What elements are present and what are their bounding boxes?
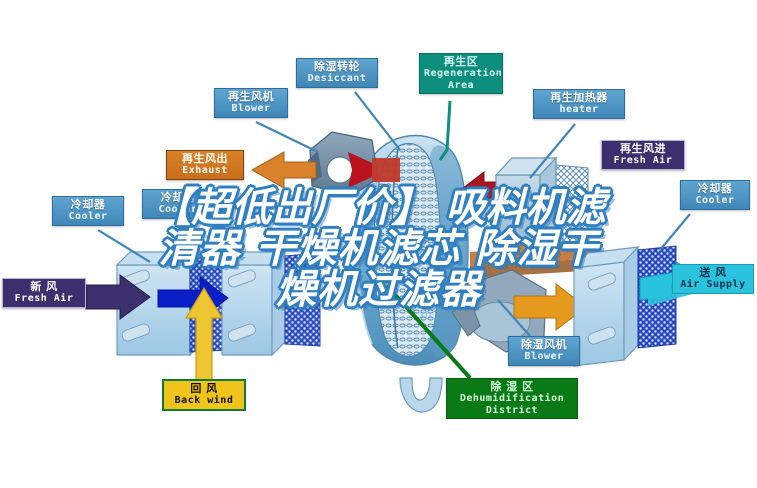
label-dehum-district-cn: 除 湿 区 — [451, 381, 573, 393]
label-air-supply: 送 风 Air Supply — [672, 264, 754, 294]
label-fresh-air-cn: 新 风 — [7, 281, 81, 293]
svg-text:xh: xh — [419, 310, 431, 321]
label-desiccant-cn: 除湿转轮 — [301, 61, 373, 73]
label-fresh-air: 新 风 Fresh Air — [2, 278, 86, 308]
label-air-supply-cn: 送 风 — [677, 267, 749, 279]
label-regen-fresh-air-in-en: Fresh Air — [606, 155, 680, 166]
supply-filter — [574, 246, 676, 366]
label-regen-heater: 再生加热器 heater — [533, 89, 625, 119]
label-cooler-left-cn: 冷却器 — [57, 199, 119, 211]
label-regen-heater-cn: 再生加热器 — [538, 92, 620, 104]
label-regen-blower-cn: 再生风机 — [219, 91, 283, 103]
label-cooler-right-en: Cooler — [685, 195, 745, 206]
label-back-wind: 回 风 Back wind — [162, 379, 246, 411]
label-cooler-mid-cn: 冷却器 — [147, 192, 209, 204]
label-regen-exhaust-cn: 再生风出 — [171, 153, 239, 165]
label-cooler-left: 冷却器 Cooler — [52, 196, 124, 226]
label-back-wind-cn: 回 风 — [168, 383, 240, 395]
label-fresh-air-en: Fresh Air — [7, 293, 81, 304]
label-regen-area-cn: 再生区 — [424, 56, 498, 68]
label-regen-blower-en: Blower — [219, 103, 283, 114]
label-regen-blower: 再生风机 Blower — [214, 88, 288, 118]
label-cooler-left-en: Cooler — [57, 211, 119, 222]
label-dehum-district-en-2: District — [451, 405, 573, 416]
label-dehum-district-en-1: Dehumidification — [451, 393, 573, 404]
cooler-coil-right — [222, 252, 320, 355]
label-air-supply-en: Air Supply — [677, 279, 749, 290]
label-dehum-blower-en: Blower — [513, 351, 575, 362]
label-dehum-blower-cn: 除湿风机 — [513, 339, 575, 351]
label-cooler-mid: 冷却器 Cooler — [142, 189, 214, 219]
label-regen-exhaust: 再生风出 Exhaust — [166, 150, 244, 180]
label-cooler-mid-en: Cooler — [147, 204, 209, 215]
exhaust-arrow — [252, 152, 316, 188]
label-desiccant-en: Desiccant — [301, 73, 373, 84]
label-dehum-district: 除 湿 区 Dehumidification District — [446, 378, 578, 419]
label-regen-heater-en: heater — [538, 104, 620, 115]
label-regen-area: 再生区 Regeneration Area — [419, 53, 503, 94]
dehumidifier-schematic: xh — [0, 0, 757, 488]
diagram-canvas: xh — [0, 0, 757, 488]
label-back-wind-en: Back wind — [168, 395, 240, 406]
label-cooler-right: 冷却器 Cooler — [680, 180, 750, 210]
label-cooler-right-cn: 冷却器 — [685, 183, 745, 195]
label-regen-fresh-air-in: 再生风进 Fresh Air — [601, 140, 685, 170]
label-regen-exhaust-en: Exhaust — [171, 165, 239, 176]
regen-heater-block — [470, 158, 600, 278]
label-dehum-blower: 除湿风机 Blower — [508, 336, 580, 366]
label-regen-area-en: Regeneration Area — [424, 68, 498, 90]
label-desiccant: 除湿转轮 Desiccant — [296, 58, 378, 88]
label-regen-fresh-air-in-cn: 再生风进 — [606, 143, 680, 155]
